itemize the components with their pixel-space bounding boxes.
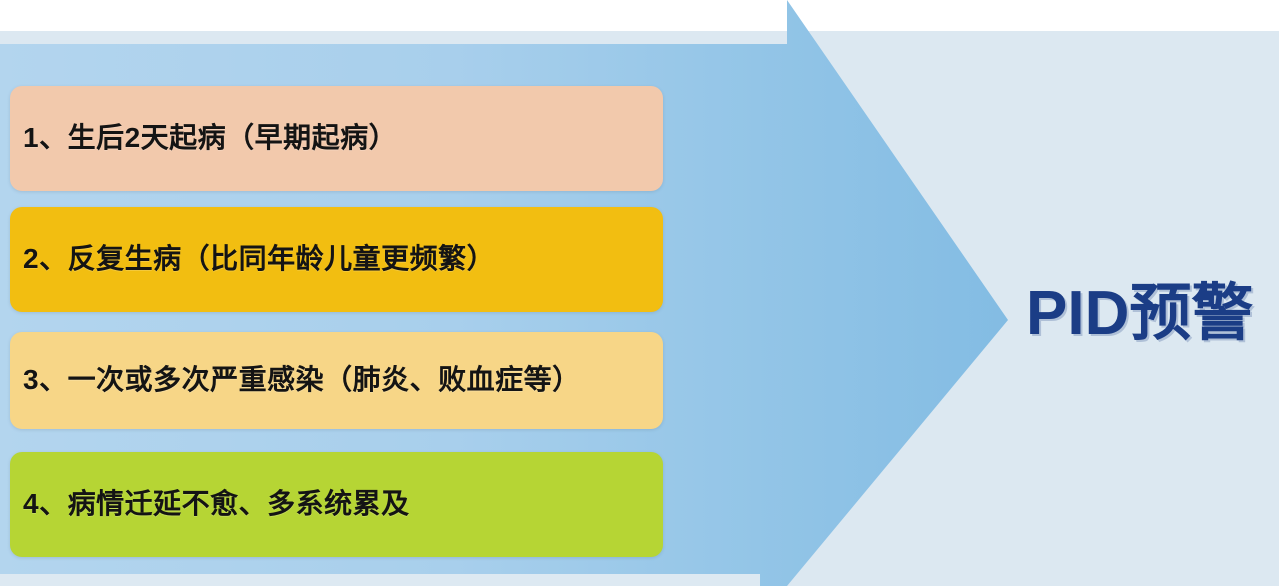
criteria-bar-3[interactable]: 3、一次或多次严重感染（肺炎、败血症等） (10, 332, 663, 429)
background-top-white-band-right (787, 0, 1279, 31)
criteria-bar-1-label: 1、生后2天起病（早期起病） (10, 122, 411, 154)
criteria-bar-3-label: 3、一次或多次严重感染（肺炎、败血症等） (10, 364, 595, 396)
headline-pid-warning: PID预警 (1026, 283, 1253, 345)
criteria-bar-1[interactable]: 1、生后2天起病（早期起病） (10, 86, 663, 191)
criteria-bar-2[interactable]: 2、反复生病（比同年龄儿童更频繁） (10, 207, 663, 312)
criteria-bar-4[interactable]: 4、病情迁延不愈、多系统累及 (10, 452, 663, 557)
background-bottom-strip (0, 574, 760, 586)
criteria-bar-4-label: 4、病情迁延不愈、多系统累及 (10, 488, 424, 520)
background-top-white-band-left (0, 0, 790, 31)
criteria-bar-2-label: 2、反复生病（比同年龄儿童更频繁） (10, 243, 509, 275)
slide-canvas: 1、生后2天起病（早期起病） 2、反复生病（比同年龄儿童更频繁） 3、一次或多次… (0, 0, 1279, 586)
